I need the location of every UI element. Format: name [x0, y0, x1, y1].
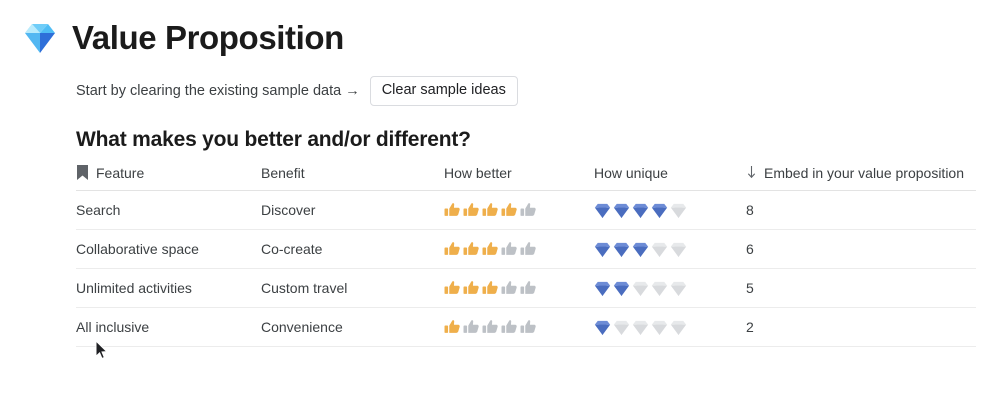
- column-header-how-unique-label: How unique: [594, 165, 668, 181]
- diamond-icon[interactable]: [632, 319, 649, 336]
- arrow-down-icon: [746, 165, 757, 180]
- how-better-rating[interactable]: [444, 241, 594, 257]
- thumbs-up-icon[interactable]: [463, 319, 480, 335]
- feature-text: Collaborative space: [76, 241, 199, 257]
- cell-how-better[interactable]: [444, 229, 594, 268]
- feature-text: All inclusive: [76, 319, 149, 335]
- how-better-rating[interactable]: [444, 202, 594, 218]
- thumbs-up-icon[interactable]: [444, 241, 461, 257]
- thumbs-up-icon[interactable]: [501, 241, 518, 257]
- cell-feature[interactable]: Search: [76, 190, 261, 229]
- benefit-text: Co-create: [261, 241, 322, 257]
- table-row[interactable]: All inclusiveConvenience2: [76, 307, 976, 346]
- column-header-how-better[interactable]: How better: [444, 165, 594, 191]
- diamond-icon[interactable]: [594, 280, 611, 297]
- cell-embed[interactable]: 6: [746, 229, 976, 268]
- column-header-how-better-label: How better: [444, 165, 512, 181]
- cell-how-better[interactable]: [444, 268, 594, 307]
- gem-icon: [20, 18, 60, 58]
- thumbs-up-icon[interactable]: [463, 280, 480, 296]
- section-heading: What makes you better and/or different?: [0, 106, 981, 152]
- cell-embed[interactable]: 5: [746, 268, 976, 307]
- how-unique-rating[interactable]: [594, 241, 746, 258]
- thumbs-up-icon[interactable]: [520, 319, 537, 335]
- thumbs-up-icon[interactable]: [501, 319, 518, 335]
- diamond-icon[interactable]: [632, 202, 649, 219]
- table-header: Feature Benefit How better How unique: [76, 165, 976, 191]
- table-header-row: Feature Benefit How better How unique: [76, 165, 976, 191]
- cell-embed[interactable]: 8: [746, 190, 976, 229]
- table-row[interactable]: Unlimited activitiesCustom travel5: [76, 268, 976, 307]
- diamond-icon[interactable]: [670, 319, 687, 336]
- column-header-benefit[interactable]: Benefit: [261, 165, 444, 191]
- embed-value: 8: [746, 202, 754, 218]
- diamond-icon[interactable]: [594, 241, 611, 258]
- how-better-rating[interactable]: [444, 280, 594, 296]
- thumbs-up-icon[interactable]: [482, 202, 499, 218]
- cell-embed[interactable]: 2: [746, 307, 976, 346]
- column-header-how-unique[interactable]: How unique: [594, 165, 746, 191]
- thumbs-up-icon[interactable]: [520, 202, 537, 218]
- value-proposition-table: Feature Benefit How better How unique: [76, 165, 976, 347]
- diamond-icon[interactable]: [613, 202, 630, 219]
- cell-how-unique[interactable]: [594, 190, 746, 229]
- diamond-icon[interactable]: [613, 319, 630, 336]
- diamond-icon[interactable]: [670, 280, 687, 297]
- thumbs-up-icon[interactable]: [520, 280, 537, 296]
- column-header-benefit-label: Benefit: [261, 165, 305, 181]
- table-row[interactable]: Collaborative spaceCo-create6: [76, 229, 976, 268]
- thumbs-up-icon[interactable]: [444, 202, 461, 218]
- thumbs-up-icon[interactable]: [501, 280, 518, 296]
- diamond-icon[interactable]: [651, 202, 668, 219]
- clear-sample-ideas-button[interactable]: Clear sample ideas: [370, 76, 518, 106]
- table-row[interactable]: SearchDiscover8: [76, 190, 976, 229]
- cell-how-unique[interactable]: [594, 229, 746, 268]
- column-header-embed[interactable]: Embed in your value proposition: [746, 165, 976, 191]
- diamond-icon[interactable]: [613, 280, 630, 297]
- how-unique-rating[interactable]: [594, 319, 746, 336]
- diamond-icon[interactable]: [613, 241, 630, 258]
- embed-value: 5: [746, 280, 754, 296]
- page-title: Value Proposition: [72, 20, 344, 56]
- thumbs-up-icon[interactable]: [501, 202, 518, 218]
- cell-feature[interactable]: All inclusive: [76, 307, 261, 346]
- column-header-feature[interactable]: Feature: [76, 165, 261, 191]
- cell-benefit[interactable]: Co-create: [261, 229, 444, 268]
- diamond-icon[interactable]: [651, 241, 668, 258]
- cell-how-better[interactable]: [444, 190, 594, 229]
- thumbs-up-icon[interactable]: [463, 241, 480, 257]
- cell-how-unique[interactable]: [594, 307, 746, 346]
- benefit-text: Discover: [261, 202, 315, 218]
- thumbs-up-icon[interactable]: [444, 319, 461, 335]
- benefit-text: Convenience: [261, 319, 343, 335]
- feature-text: Unlimited activities: [76, 280, 192, 296]
- subtitle-text: Start by clearing the existing sample da…: [76, 83, 360, 99]
- cell-feature[interactable]: Unlimited activities: [76, 268, 261, 307]
- cell-benefit[interactable]: Discover: [261, 190, 444, 229]
- cell-how-unique[interactable]: [594, 268, 746, 307]
- diamond-icon[interactable]: [594, 319, 611, 336]
- thumbs-up-icon[interactable]: [463, 202, 480, 218]
- diamond-icon[interactable]: [594, 202, 611, 219]
- bookmark-icon: [76, 165, 89, 180]
- column-header-feature-label: Feature: [96, 165, 144, 181]
- thumbs-up-icon[interactable]: [482, 280, 499, 296]
- embed-value: 6: [746, 241, 754, 257]
- table-body: SearchDiscover8Collaborative spaceCo-cre…: [76, 190, 976, 346]
- cell-benefit[interactable]: Custom travel: [261, 268, 444, 307]
- diamond-icon[interactable]: [632, 241, 649, 258]
- diamond-icon[interactable]: [651, 319, 668, 336]
- benefit-text: Custom travel: [261, 280, 347, 296]
- page-header: Value Proposition: [0, 0, 981, 58]
- cell-how-better[interactable]: [444, 307, 594, 346]
- subtitle-row: Start by clearing the existing sample da…: [0, 58, 981, 106]
- embed-value: 2: [746, 319, 754, 335]
- diamond-icon[interactable]: [632, 280, 649, 297]
- thumbs-up-icon[interactable]: [520, 241, 537, 257]
- value-proposition-table-wrapper: Feature Benefit How better How unique: [0, 152, 981, 347]
- diamond-icon[interactable]: [670, 202, 687, 219]
- feature-text: Search: [76, 202, 120, 218]
- cell-benefit[interactable]: Convenience: [261, 307, 444, 346]
- how-unique-rating[interactable]: [594, 202, 746, 219]
- thumbs-up-icon[interactable]: [482, 241, 499, 257]
- column-header-embed-label: Embed in your value proposition: [764, 165, 964, 181]
- cell-feature[interactable]: Collaborative space: [76, 229, 261, 268]
- how-better-rating[interactable]: [444, 319, 594, 335]
- thumbs-up-icon[interactable]: [482, 319, 499, 335]
- diamond-icon[interactable]: [670, 241, 687, 258]
- thumbs-up-icon[interactable]: [444, 280, 461, 296]
- diamond-icon[interactable]: [651, 280, 668, 297]
- how-unique-rating[interactable]: [594, 280, 746, 297]
